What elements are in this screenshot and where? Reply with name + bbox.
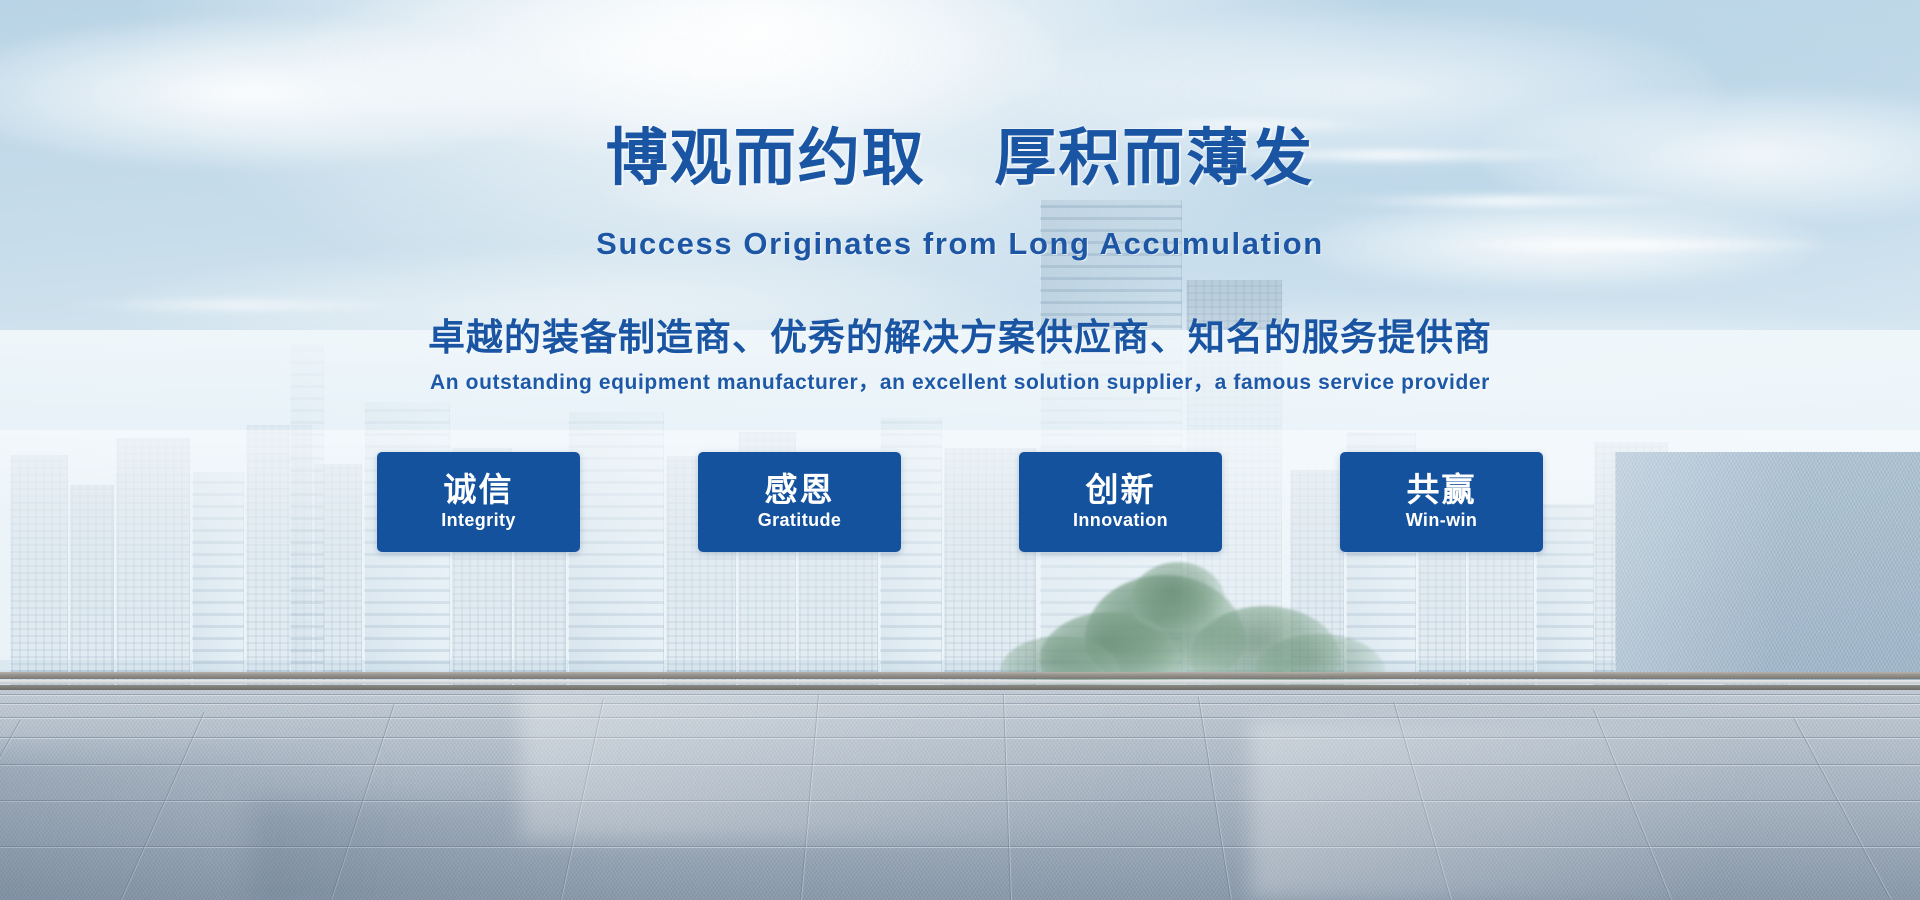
headline-zh-part2: 厚积而薄发 <box>994 124 1314 193</box>
value-card-label-en: Integrity <box>441 510 516 531</box>
value-cards: 诚信 Integrity 感恩 Gratitude 创新 Innovation … <box>0 452 1920 552</box>
value-card-gratitude[interactable]: 感恩 Gratitude <box>698 452 901 552</box>
page-title: 博观而约取 厚积而薄发 <box>0 128 1920 190</box>
subtitle-english: An outstanding equipment manufacturer，an… <box>0 366 1920 396</box>
value-card-innovation[interactable]: 创新 Innovation <box>1019 452 1222 552</box>
banner-content: 博观而约取 厚积而薄发 Success Originates from Long… <box>0 0 1920 900</box>
subtitle-chinese: 卓越的装备制造商、优秀的解决方案供应商、知名的服务提供商 <box>0 307 1920 361</box>
value-card-label-zh: 共赢 <box>1407 473 1477 508</box>
value-card-label-zh: 创新 <box>1086 473 1156 508</box>
value-card-label-en: Win-win <box>1406 510 1478 531</box>
value-card-label-en: Gratitude <box>758 510 842 531</box>
value-card-integrity[interactable]: 诚信 Integrity <box>377 452 580 552</box>
headline-zh-part1: 博观而约取 <box>606 124 926 193</box>
headline-english: Success Originates from Long Accumulatio… <box>0 226 1920 262</box>
value-card-label-zh: 感恩 <box>765 473 835 508</box>
hero-banner: 博观而约取 厚积而薄发 Success Originates from Long… <box>0 0 1920 900</box>
value-card-winwin[interactable]: 共赢 Win-win <box>1340 452 1543 552</box>
value-card-label-en: Innovation <box>1073 510 1168 531</box>
value-card-label-zh: 诚信 <box>444 473 514 508</box>
